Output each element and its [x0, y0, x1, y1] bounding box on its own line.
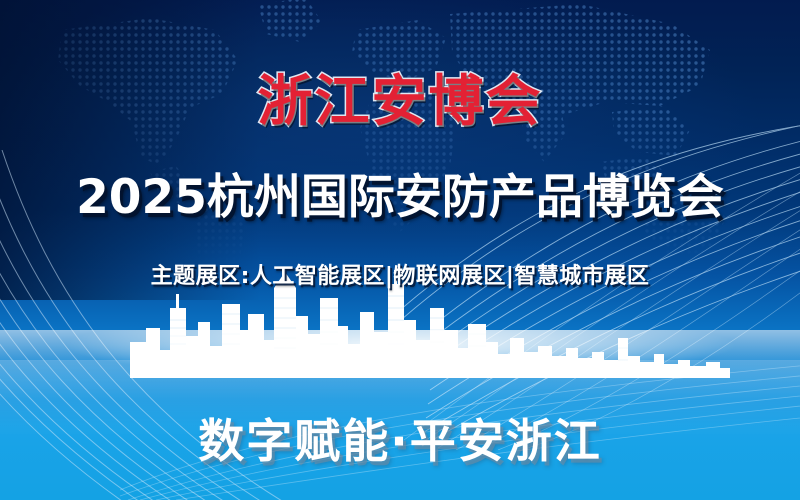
slogan: 数字赋能·平安浙江	[0, 405, 800, 471]
subtitle-zones: 主题展区:人工智能展区|物联网展区|智慧城市展区	[0, 258, 800, 290]
exhibition-poster: 浙江安博会 2025杭州国际安防产品博览会 主题展区:人工智能展区|物联网展区|…	[0, 0, 800, 500]
dotted-world-map	[0, 0, 800, 290]
page-title: 2025杭州国际安防产品博览会	[0, 158, 800, 227]
headline-red: 浙江安博会	[0, 56, 800, 136]
